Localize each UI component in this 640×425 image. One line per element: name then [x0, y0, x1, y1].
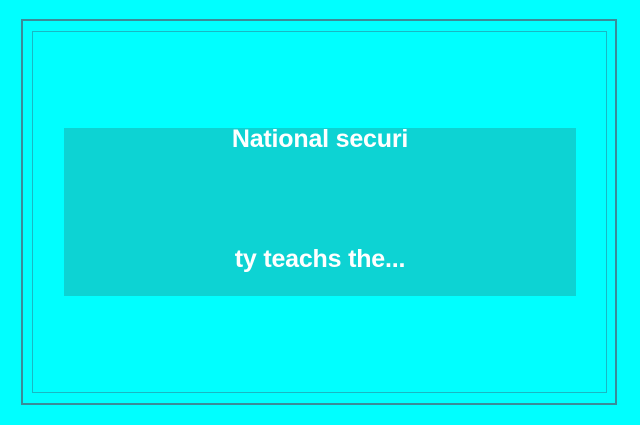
screenshot-canvas: National securi ty teachs the... [0, 0, 640, 425]
card-text-block: National securi ty teachs the... [232, 39, 408, 359]
placeholder-card: National securi ty teachs the... [64, 128, 576, 296]
card-text-line-2: ty teachs the... [232, 239, 408, 279]
card-text-line-1: National securi [232, 119, 408, 159]
